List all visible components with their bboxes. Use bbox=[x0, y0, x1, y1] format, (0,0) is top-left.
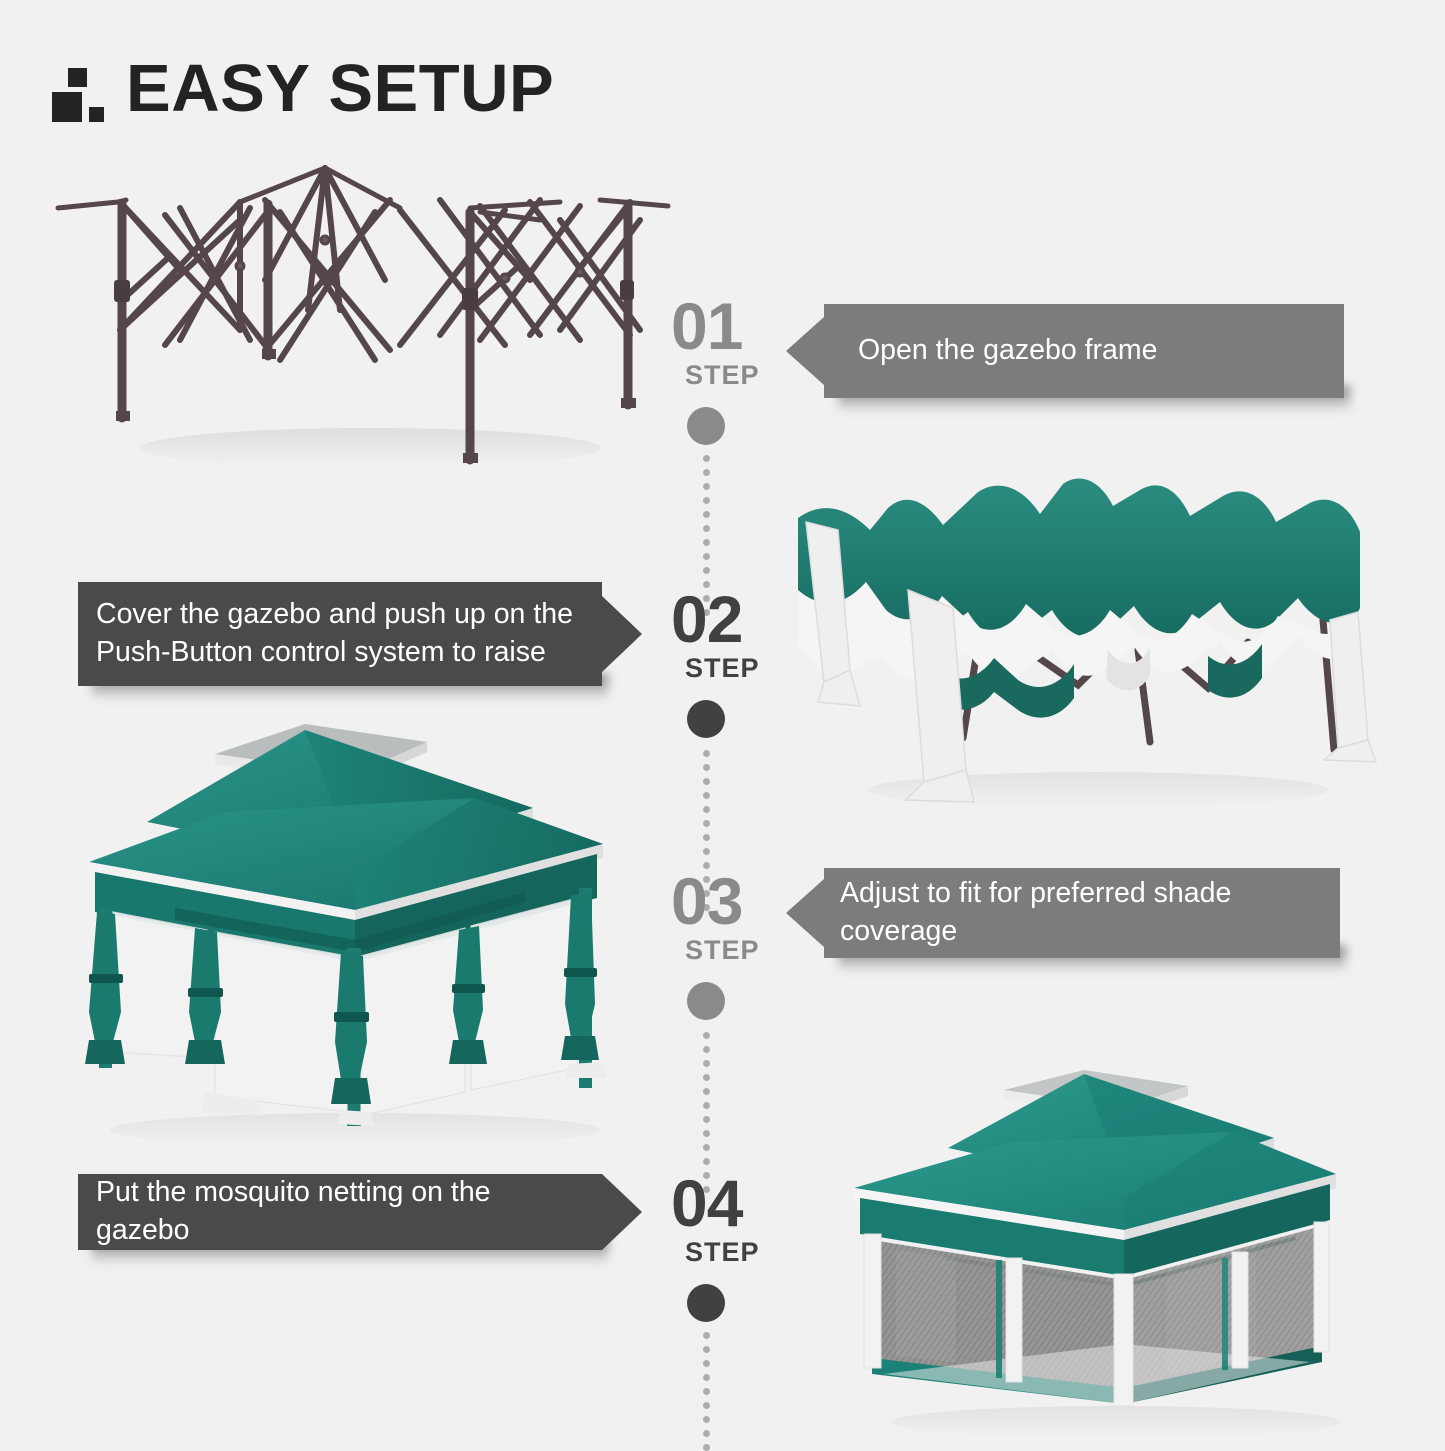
step-label: STEP bbox=[685, 360, 783, 391]
step-dot bbox=[687, 407, 725, 445]
step-number: 04 bbox=[671, 1172, 783, 1235]
step-marker-02: 02 STEP bbox=[663, 588, 783, 738]
infographic-page: EASY SETUP bbox=[0, 0, 1445, 1445]
callout-text: Put the mosquito netting on the gazebo bbox=[96, 1174, 584, 1249]
callout-step-03: Adjust to fit for preferred shade covera… bbox=[824, 868, 1340, 958]
callout-arrow-right-icon bbox=[602, 596, 642, 672]
callout-step-04: Put the mosquito netting on the gazebo bbox=[78, 1174, 602, 1250]
step-dot bbox=[687, 700, 725, 738]
timeline-dots-4 bbox=[703, 1332, 710, 1447]
callout-arrow-right-icon bbox=[602, 1174, 642, 1250]
callout-arrow-left-icon bbox=[786, 879, 824, 947]
page-header: EASY SETUP bbox=[52, 55, 554, 122]
step-marker-04: 04 STEP bbox=[663, 1172, 783, 1322]
three-squares-logo-icon bbox=[52, 64, 104, 122]
page-title: EASY SETUP bbox=[126, 55, 554, 122]
step-marker-03: 03 STEP bbox=[663, 870, 783, 1020]
step-label: STEP bbox=[685, 935, 783, 966]
callout-step-01: Open the gazebo frame bbox=[824, 304, 1344, 398]
step-dot bbox=[687, 982, 725, 1020]
figure-gazebo-with-netting bbox=[836, 1062, 1376, 1447]
callout-step-02: Cover the gazebo and push up on the Push… bbox=[78, 582, 602, 686]
step-number: 03 bbox=[671, 870, 783, 933]
step-dot bbox=[687, 1284, 725, 1322]
steps-timeline: 01 STEP 02 STEP 03 STEP 04 STEP bbox=[663, 150, 783, 1445]
callout-text: Open the gazebo frame bbox=[858, 332, 1157, 370]
callout-text: Cover the gazebo and push up on the Push… bbox=[96, 596, 573, 671]
step-number: 02 bbox=[671, 588, 783, 651]
figure-gazebo-canopy-draped bbox=[778, 470, 1378, 820]
callout-arrow-left-icon bbox=[786, 317, 824, 385]
figure-gazebo-frame-expanded bbox=[40, 160, 690, 470]
step-number: 01 bbox=[671, 295, 783, 358]
step-marker-01: 01 STEP bbox=[663, 295, 783, 445]
callout-text: Adjust to fit for preferred shade covera… bbox=[840, 875, 1324, 950]
step-label: STEP bbox=[685, 1237, 783, 1268]
step-label: STEP bbox=[685, 653, 783, 684]
figure-gazebo-raised-curtains bbox=[55, 712, 645, 1162]
